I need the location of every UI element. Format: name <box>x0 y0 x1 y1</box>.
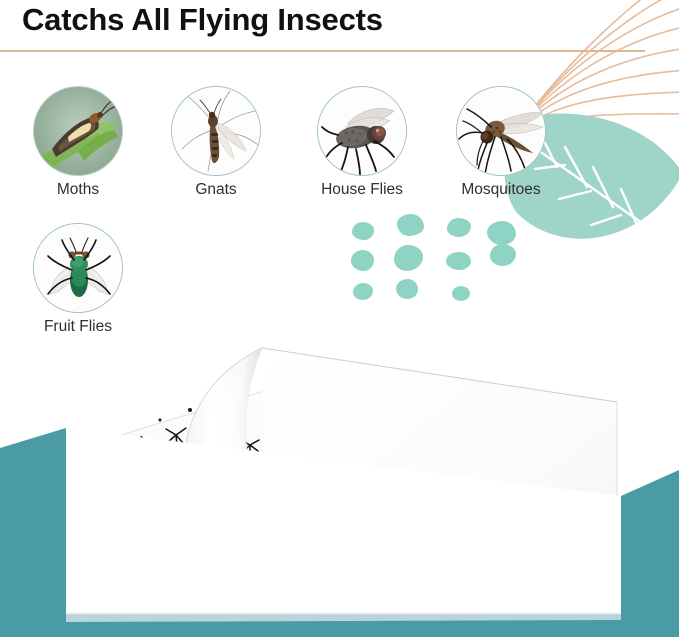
insect-label: Mosquitoes <box>456 181 546 199</box>
insect-label: Moths <box>33 181 123 199</box>
insect-chip-mosquitoes[interactable]: Mosquitoes <box>456 86 546 199</box>
insect-label: House Flies <box>317 181 407 199</box>
mosquito-icon <box>456 86 546 176</box>
insect-chip-house-flies[interactable]: House Flies <box>317 86 407 199</box>
insect-label: Gnats <box>171 181 261 199</box>
title-underline <box>0 50 645 52</box>
moth-icon <box>33 86 123 176</box>
insect-chip-moths[interactable]: Moths <box>33 86 123 199</box>
gnat-icon <box>171 86 261 176</box>
insect-chip-gnats[interactable]: Gnats <box>171 86 261 199</box>
house-fly-icon <box>317 86 407 176</box>
page-title: Catchs All Flying Insects <box>22 2 383 38</box>
teal-frame <box>0 400 679 637</box>
product-marketing-image: Catchs All Flying Insects <box>0 0 679 637</box>
